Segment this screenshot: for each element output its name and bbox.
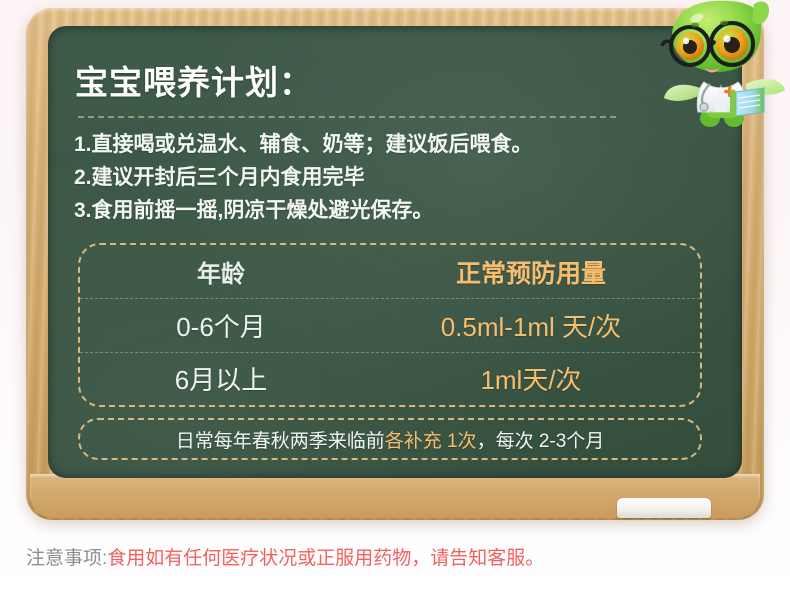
chalkboard: 宝宝喂养计划： 1.直接喝或兑温水、辅食、奶等；建议饭后喂食。 2.建议开封后三…	[48, 26, 742, 478]
table-cell-age-2: 6月以上	[80, 360, 362, 397]
page-title: 宝宝喂养计划：	[75, 56, 313, 104]
table-header-row: 年龄 正常预防用量	[80, 245, 700, 298]
table-row: 6月以上 1ml天/次	[80, 352, 700, 405]
footer-warning-text: 食用如有任何医疗状况或正服用药物，请告知客服。	[107, 548, 544, 569]
mascot-leaf-left	[664, 85, 702, 101]
table-header-dose: 正常预防用量	[362, 254, 700, 290]
chalk-eraser	[617, 498, 711, 518]
instruction-list: 1.直接喝或兑温水、辅食、奶等；建议饭后喂食。 2.建议开封后三个月内食用完毕 …	[74, 128, 714, 227]
feeding-plan-card: 宝宝喂养计划： 1.直接喝或兑温水、辅食、奶等；建议饭后喂食。 2.建议开封后三…	[0, 0, 790, 593]
table-cell-age-1: 0-6个月	[80, 307, 362, 344]
chalkboard-content: 宝宝喂养计划： 1.直接喝或兑温水、辅食、奶等；建议饭后喂食。 2.建议开封后三…	[48, 26, 742, 478]
seasonal-note-box: 日常每年春秋两季来临前各补充 1次，每次 2-3个月	[78, 418, 702, 460]
note-suffix: ，每次 2-3个月	[477, 431, 605, 452]
green-doctor-mascot-icon	[652, 0, 790, 138]
note-prefix: 日常每年春秋两季来临前	[176, 431, 385, 452]
dosage-table: 年龄 正常预防用量 0-6个月 0.5ml-1ml 天/次 6月以上 1ml天/…	[78, 243, 702, 407]
instruction-item-3: 3.食用前摇一摇,阴凉干燥处避光保存。	[74, 194, 714, 227]
mascot-book-icon	[730, 88, 764, 116]
footer-notice: 注意事项:食用如有任何医疗状况或正服用药物，请告知客服。	[26, 543, 766, 570]
instruction-item-2: 2.建议开封后三个月内食用完毕	[74, 161, 714, 194]
footer-label: 注意事项:	[26, 548, 107, 569]
table-cell-dose-1: 0.5ml-1ml 天/次	[362, 307, 700, 344]
title-divider	[78, 116, 616, 118]
table-row: 0-6个月 0.5ml-1ml 天/次	[80, 298, 700, 351]
mascot-droplet-tip	[752, 2, 769, 24]
instruction-item-1: 1.直接喝或兑温水、辅食、奶等；建议饭后喂食。	[74, 128, 714, 161]
note-highlight: 各补充 1次	[385, 431, 477, 452]
table-cell-dose-2: 1ml天/次	[362, 360, 700, 397]
seasonal-note-text: 日常每年春秋两季来临前各补充 1次，每次 2-3个月	[176, 426, 605, 453]
table-header-age: 年龄	[80, 254, 362, 289]
